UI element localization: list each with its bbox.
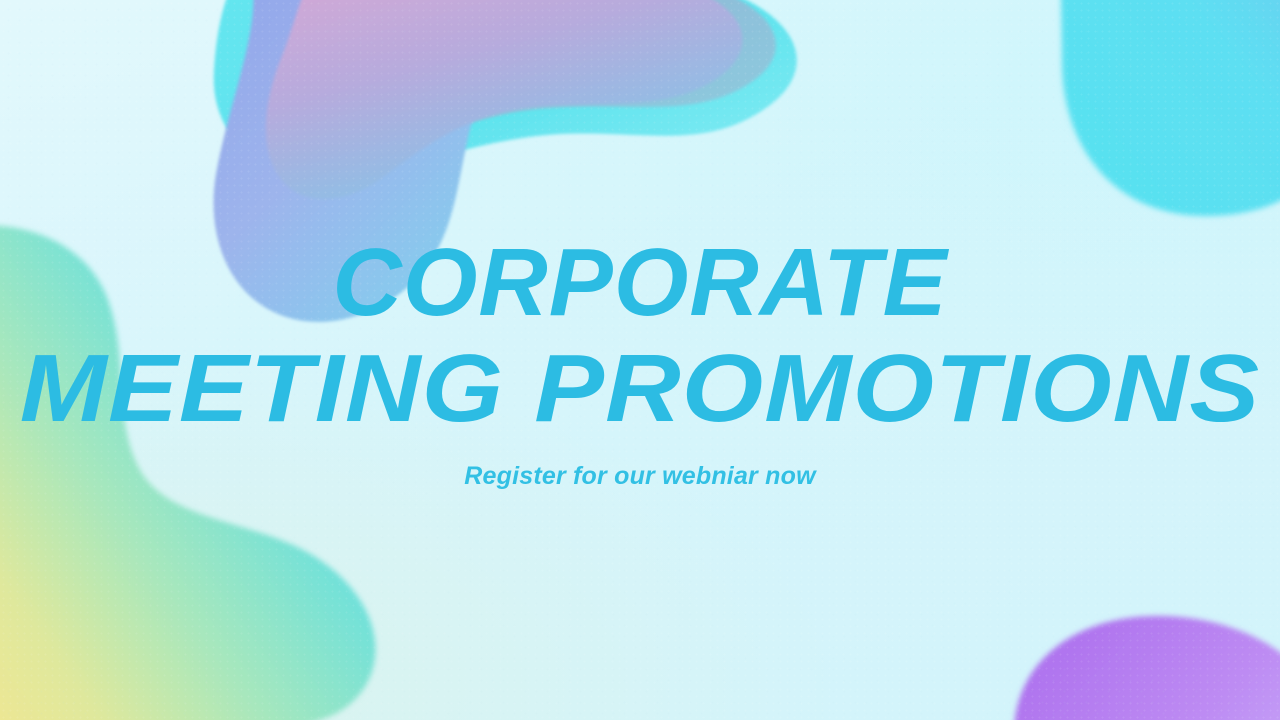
subtitle: Register for our webniar now bbox=[0, 462, 1280, 491]
headline-line-2: Meeting Promotions bbox=[0, 342, 1280, 436]
headline-line-1: Corporate bbox=[0, 236, 1280, 330]
poster-canvas: Corporate Meeting Promotions Register fo… bbox=[0, 0, 1280, 720]
text-block: Corporate Meeting Promotions Register fo… bbox=[0, 236, 1280, 491]
page-title: Corporate Meeting Promotions bbox=[0, 236, 1280, 436]
bottom-right-blob-purple bbox=[1014, 616, 1280, 720]
top-right-blob-cyan bbox=[1061, 0, 1280, 216]
